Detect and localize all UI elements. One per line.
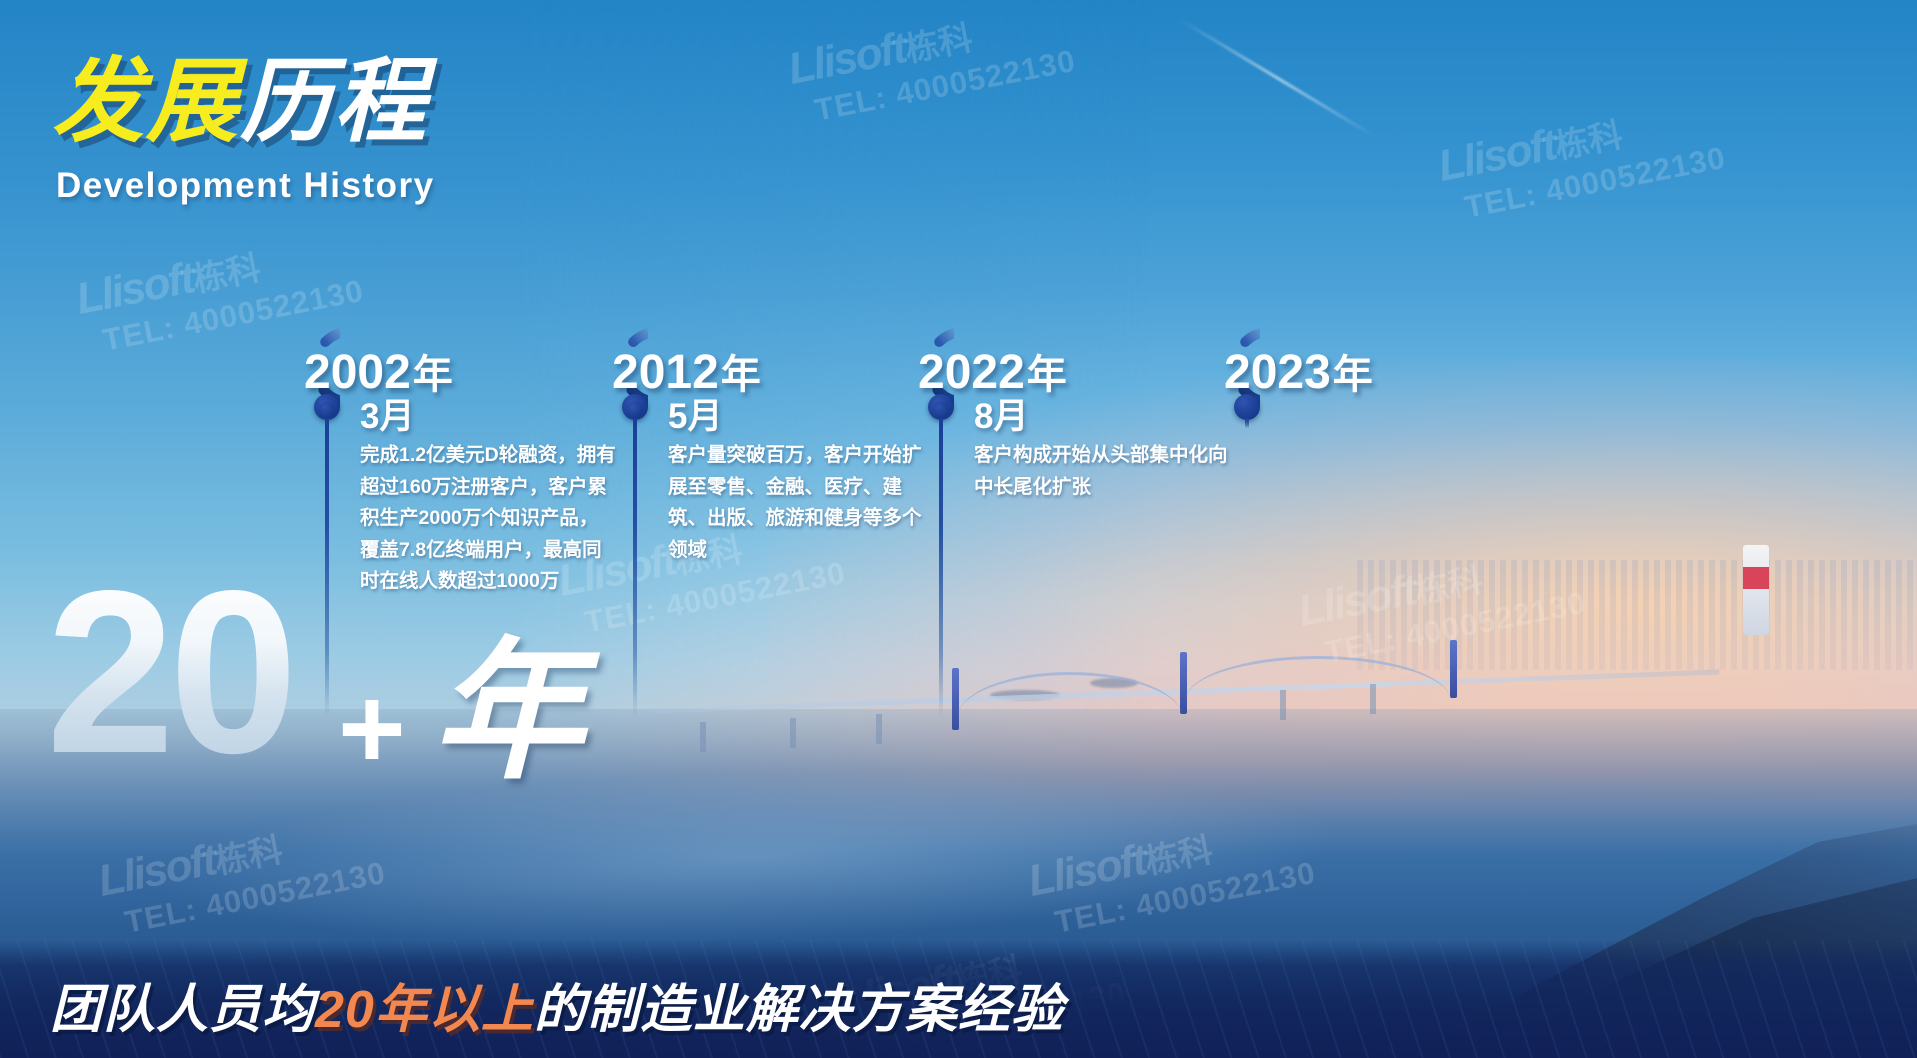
year-suffix: 年	[1027, 353, 1067, 397]
month-dot	[933, 402, 949, 418]
node-stem	[1245, 418, 1249, 428]
years-stat: 20 + 年	[46, 566, 292, 779]
tagline-part-1: 团队人员均	[50, 981, 315, 1039]
year-suffix: 年	[721, 353, 761, 397]
node-dot	[1234, 394, 1260, 420]
stat-number: 20	[46, 566, 292, 779]
month-dot	[319, 402, 335, 418]
node-stem	[633, 418, 637, 718]
month-label: 8月	[974, 388, 1028, 439]
month-label: 5月	[668, 388, 722, 439]
year-label: 2023年	[1224, 342, 1373, 400]
tagline-part-3: 的制造业解决方案经验	[534, 981, 1064, 1039]
tagline: 团队人员均20年以上的制造业解决方案经验	[50, 984, 1064, 1036]
year-value: 2023	[1224, 346, 1331, 399]
node-description: 客户量突破百万，客户开始扩展至零售、金融、医疗、建筑、出版、旅游和健身等多个领域	[668, 440, 930, 566]
tagline-highlight: 20年以上	[315, 981, 534, 1039]
timeline: 2002年 3月 完成1.2亿美元D轮融资，拥有超过160万注册客户，客户累积生…	[0, 0, 1917, 1058]
stat-plus: +	[338, 670, 406, 786]
year-suffix: 年	[413, 353, 453, 397]
node-stem	[325, 418, 329, 718]
month-label: 3月	[360, 388, 414, 439]
stat-unit: 年	[432, 636, 584, 788]
node-stem	[939, 418, 943, 718]
month-dot	[627, 402, 643, 418]
poster-canvas: Llisoft栋科 TEL: 4000522130 Llisoft栋科 TEL:…	[0, 0, 1917, 1058]
year-suffix: 年	[1333, 353, 1373, 397]
node-description: 客户构成开始从头部集中化向中长尾化扩张	[974, 440, 1244, 503]
node-description: 完成1.2亿美元D轮融资，拥有超过160万注册客户，客户累积生产2000万个知识…	[360, 440, 616, 598]
